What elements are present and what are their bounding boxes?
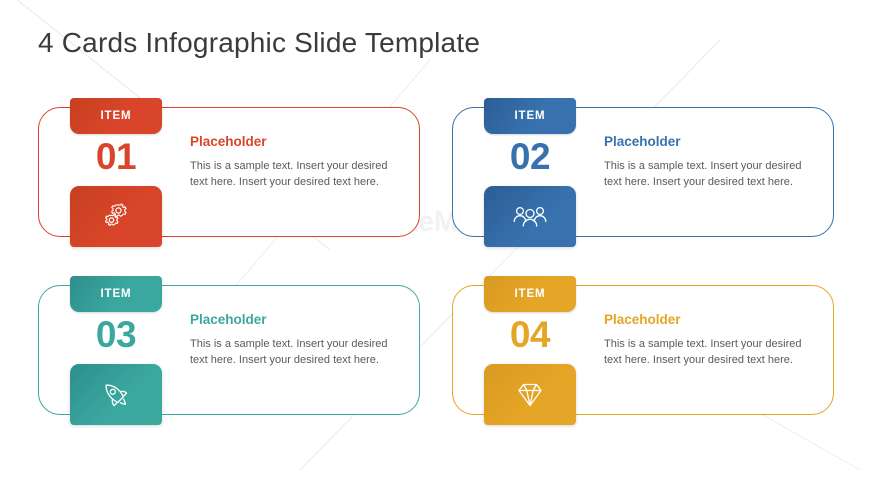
- icon-tab[interactable]: [484, 186, 576, 247]
- icon-tab[interactable]: [70, 186, 162, 247]
- item-tab-label: ITEM: [100, 110, 131, 122]
- card-text: This is a sample text. Insert your desir…: [190, 158, 404, 191]
- item-tab-label: ITEM: [514, 110, 545, 122]
- card-number: 04: [484, 316, 576, 353]
- card-item-01[interactable]: ITEM 01 Placeholder This is a sample: [38, 107, 420, 237]
- card-text: This is a sample text. Insert your desir…: [190, 336, 404, 369]
- card-number: 02: [484, 138, 576, 175]
- icon-tab[interactable]: [70, 364, 162, 425]
- card-body: Placeholder This is a sample text. Inser…: [604, 135, 818, 190]
- diamond-icon: [512, 379, 548, 411]
- people-group-icon: [511, 202, 549, 232]
- card-heading: Placeholder: [604, 313, 818, 328]
- card-number: 03: [70, 316, 162, 353]
- item-tab[interactable]: ITEM: [484, 98, 576, 134]
- card-item-03[interactable]: ITEM 03 Placeholder This is a sample tex…: [38, 285, 420, 415]
- card-item-02[interactable]: ITEM 02 Placeholder This is a sample tex…: [452, 107, 834, 237]
- gears-icon: [98, 199, 134, 235]
- card-heading: Placeholder: [604, 135, 818, 150]
- card-body: Placeholder This is a sample text. Inser…: [604, 313, 818, 368]
- icon-tab[interactable]: [484, 364, 576, 425]
- item-tab[interactable]: ITEM: [70, 276, 162, 312]
- card-heading: Placeholder: [190, 313, 404, 328]
- card-text: This is a sample text. Insert your desir…: [604, 336, 818, 369]
- card-body: Placeholder This is a sample text. Inser…: [190, 135, 404, 190]
- card-body: Placeholder This is a sample text. Inser…: [190, 313, 404, 368]
- item-tab[interactable]: ITEM: [484, 276, 576, 312]
- cards-container: ITEM 01 Placeholder This is a sample: [0, 0, 870, 489]
- card-heading: Placeholder: [190, 135, 404, 150]
- page-title: 4 Cards Infographic Slide Template: [38, 27, 480, 59]
- item-tab-label: ITEM: [514, 288, 545, 300]
- item-tab-label: ITEM: [100, 288, 131, 300]
- card-number: 01: [70, 138, 162, 175]
- card-text: This is a sample text. Insert your desir…: [604, 158, 818, 191]
- card-item-04[interactable]: ITEM 04 Placeholder This is a sample tex…: [452, 285, 834, 415]
- rocket-icon: [97, 376, 135, 414]
- item-tab[interactable]: ITEM: [70, 98, 162, 134]
